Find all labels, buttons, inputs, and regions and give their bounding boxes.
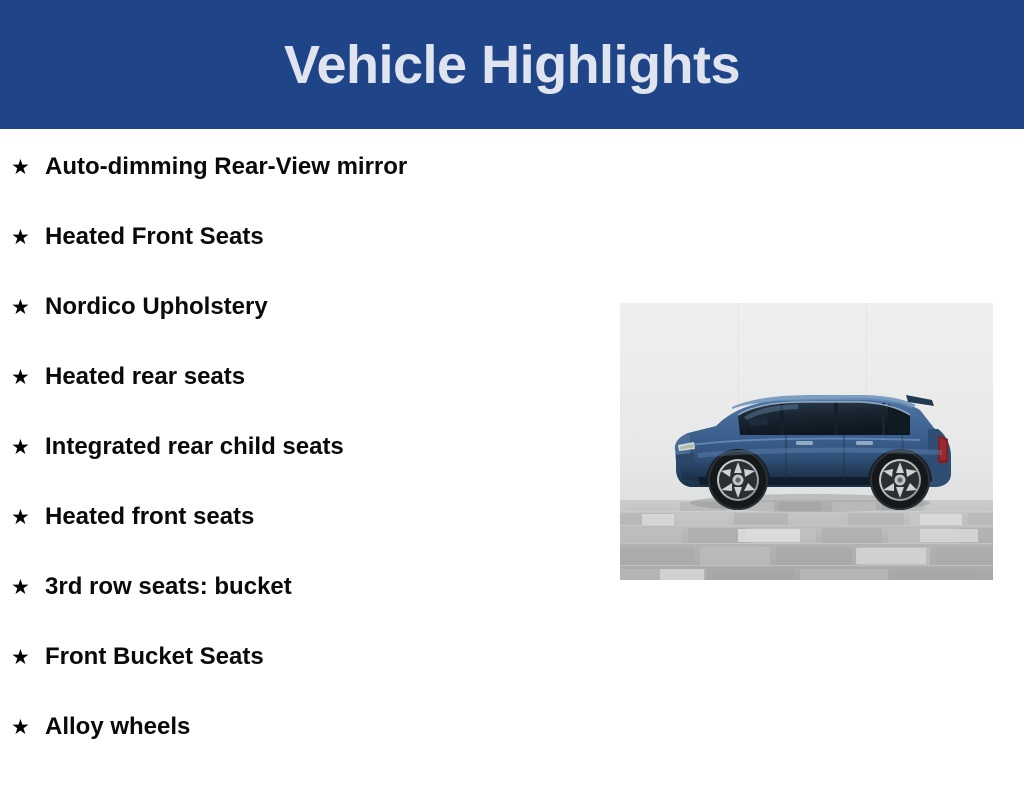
header-banner: Vehicle Highlights [0,0,1024,129]
list-item: ★ 3rd row seats: bucket [0,575,600,645]
list-item: ★ Front Bucket Seats [0,645,600,715]
star-icon: ★ [11,717,45,738]
vehicle-highlights-list: ★ Auto-dimming Rear-View mirror ★ Heated… [0,129,600,768]
vehicle-photo [620,303,993,580]
star-icon: ★ [11,437,45,458]
list-item: ★ Integrated rear child seats [0,435,600,505]
vehicle-side-profile-image [620,303,993,580]
star-icon: ★ [11,367,45,388]
list-item-label: Alloy wheels [45,715,190,739]
list-item: ★ Nordico Upholstery [0,295,600,365]
star-icon: ★ [11,157,45,178]
star-icon: ★ [11,507,45,528]
list-item-label: Heated Front Seats [45,225,264,249]
list-item-label: 3rd row seats: bucket [45,575,292,599]
list-item: ★ Heated Front Seats [0,225,600,295]
list-item-label: Heated front seats [45,505,254,529]
star-icon: ★ [11,577,45,598]
star-icon: ★ [11,647,45,668]
list-item-label: Auto-dimming Rear-View mirror [45,155,407,179]
list-item-label: Integrated rear child seats [45,435,344,459]
list-item: ★ Heated front seats [0,505,600,575]
list-item-label: Nordico Upholstery [45,295,268,319]
list-item-label: Front Bucket Seats [45,645,264,669]
list-item: ★ Auto-dimming Rear-View mirror [0,129,600,225]
slide-root: Vehicle Highlights ★ Auto-dimming Rear-V… [0,0,1024,768]
star-icon: ★ [11,227,45,248]
star-icon: ★ [11,297,45,318]
list-item: ★ Heated rear seats [0,365,600,435]
list-item: ★ Alloy wheels [0,715,600,785]
page-title: Vehicle Highlights [284,38,740,92]
list-item-label: Heated rear seats [45,365,245,389]
